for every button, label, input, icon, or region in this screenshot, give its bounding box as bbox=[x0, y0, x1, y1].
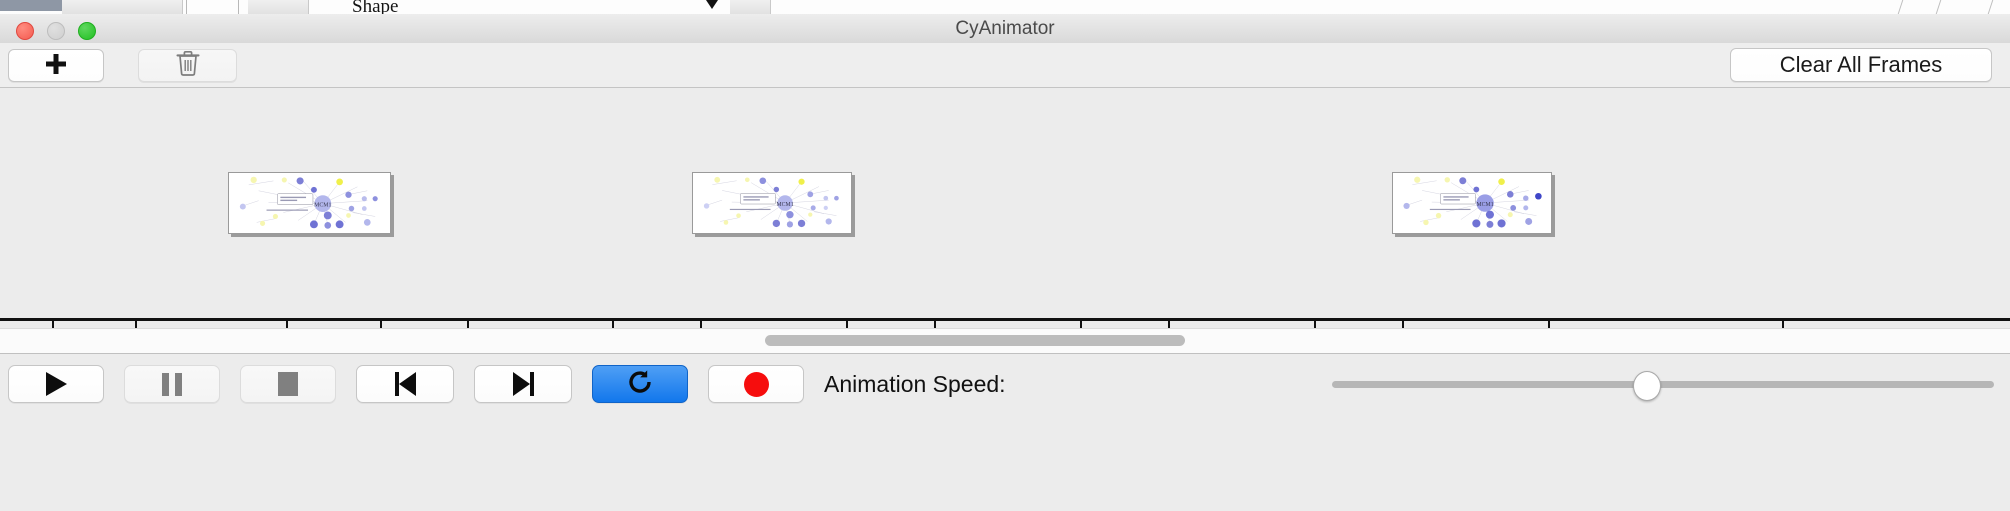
animation-speed-label: Animation Speed: bbox=[824, 365, 1006, 403]
scrollbar-thumb[interactable] bbox=[765, 335, 1185, 346]
background-divider bbox=[1936, 0, 1942, 14]
axis-tick-major bbox=[934, 321, 936, 328]
slider-thumb[interactable] bbox=[1633, 371, 1661, 401]
network-thumbnail-graphic: MCM1 bbox=[1393, 173, 1551, 233]
play-button[interactable] bbox=[8, 365, 104, 403]
axis-tick-major bbox=[700, 321, 702, 328]
loop-icon bbox=[626, 368, 654, 401]
network-thumbnail-graphic: MCM1 bbox=[229, 173, 390, 234]
title-bar[interactable]: CyAnimator bbox=[0, 14, 2010, 44]
background-toolbar-chunk bbox=[62, 0, 183, 14]
axis-tick-minor bbox=[380, 321, 382, 328]
record-button[interactable] bbox=[708, 365, 804, 403]
axis-tick-minor bbox=[1548, 321, 1550, 328]
background-toolbar-chunk bbox=[248, 0, 309, 14]
skip-to-start-icon bbox=[395, 372, 416, 396]
background-caret-icon bbox=[706, 0, 718, 9]
skip-to-end-icon bbox=[513, 372, 534, 396]
svg-text:MCM1: MCM1 bbox=[1477, 202, 1494, 208]
frame-toolbar: Clear All Frames bbox=[0, 43, 2010, 88]
background-window-strip: Shape bbox=[0, 0, 2010, 14]
axis-tick-minor bbox=[135, 321, 137, 328]
pause-icon bbox=[162, 373, 182, 396]
keyframe-thumbnail[interactable]: MCM1 bbox=[692, 172, 852, 234]
record-icon bbox=[744, 372, 769, 397]
timeline-axis-line bbox=[0, 318, 2010, 321]
loop-button[interactable] bbox=[592, 365, 688, 403]
timeline-panel[interactable]: MCM1 bbox=[0, 88, 2010, 328]
background-window-label: Shape bbox=[352, 0, 398, 14]
add-frame-button[interactable] bbox=[8, 49, 104, 82]
window-title: CyAnimator bbox=[0, 14, 2010, 43]
stop-icon bbox=[278, 372, 298, 396]
stop-button[interactable] bbox=[240, 365, 336, 403]
clear-all-frames-label: Clear All Frames bbox=[1780, 52, 1943, 78]
playback-control-bar: Animation Speed: bbox=[0, 353, 2010, 511]
svg-text:MCM1: MCM1 bbox=[314, 203, 331, 209]
play-icon bbox=[46, 372, 67, 396]
cyanimator-window: Shape CyAnimator bbox=[0, 0, 2010, 510]
axis-tick-minor bbox=[612, 321, 614, 328]
background-window-titlebar bbox=[0, 0, 62, 11]
clear-all-frames-button[interactable]: Clear All Frames bbox=[1730, 48, 1992, 82]
background-divider bbox=[238, 0, 239, 14]
background-divider bbox=[186, 0, 187, 14]
pause-button[interactable] bbox=[124, 365, 220, 403]
axis-tick-minor bbox=[1314, 321, 1316, 328]
axis-tick-major bbox=[1402, 321, 1404, 328]
background-toolbar-chunk bbox=[730, 0, 771, 14]
axis-tick-major bbox=[1168, 321, 1170, 328]
network-thumbnail-graphic: MCM1 bbox=[693, 173, 851, 233]
trash-icon bbox=[176, 50, 200, 82]
skip-to-end-button[interactable] bbox=[474, 365, 572, 403]
plus-icon bbox=[44, 52, 68, 79]
slider-track[interactable] bbox=[1332, 381, 1994, 388]
timeline-horizontal-scrollbar[interactable] bbox=[0, 328, 2010, 354]
delete-frame-button[interactable] bbox=[138, 49, 237, 82]
axis-tick-major bbox=[467, 321, 469, 328]
keyframe-thumbnail[interactable]: MCM1 bbox=[1392, 172, 1552, 234]
axis-tick-major bbox=[286, 321, 288, 328]
axis-tick-minor bbox=[1782, 321, 1784, 328]
skip-to-start-button[interactable] bbox=[356, 365, 454, 403]
keyframe-thumbnail[interactable]: MCM1 bbox=[228, 172, 391, 234]
axis-tick-minor bbox=[1080, 321, 1082, 328]
svg-text:MCM1: MCM1 bbox=[777, 202, 794, 208]
axis-tick-minor bbox=[846, 321, 848, 328]
background-divider bbox=[1988, 0, 1994, 14]
axis-tick-major bbox=[52, 321, 54, 328]
background-divider bbox=[1898, 0, 1904, 14]
animation-speed-slider[interactable] bbox=[1332, 365, 1994, 403]
